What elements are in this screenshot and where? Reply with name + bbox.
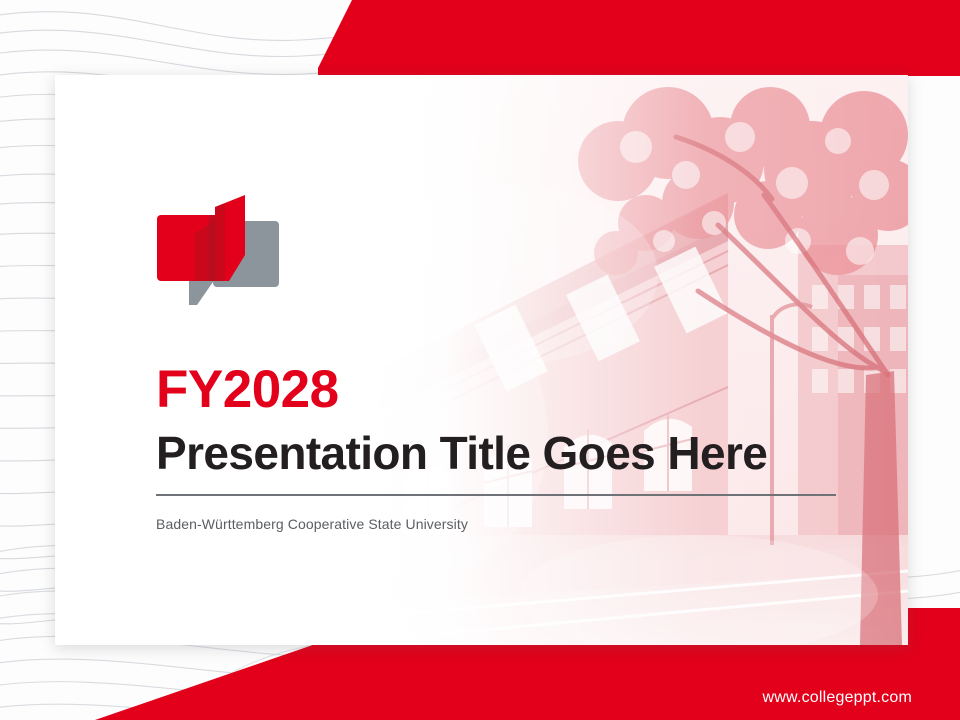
title-divider bbox=[156, 494, 836, 496]
title-slide: FY2028 Presentation Title Goes Here Bade… bbox=[0, 0, 960, 720]
dhbw-logo bbox=[155, 193, 283, 305]
content-card: FY2028 Presentation Title Goes Here Bade… bbox=[55, 75, 908, 645]
campus-building-photo bbox=[368, 75, 908, 645]
fiscal-year: FY2028 bbox=[156, 363, 856, 417]
page-title: Presentation Title Goes Here bbox=[156, 427, 856, 480]
title-text-block: FY2028 Presentation Title Goes Here Bade… bbox=[156, 363, 856, 532]
photo-fade-overlay bbox=[368, 75, 908, 645]
university-name: Baden-Württemberg Cooperative State Univ… bbox=[156, 516, 856, 532]
footer-website-url[interactable]: www.collegeppt.com bbox=[763, 689, 912, 707]
